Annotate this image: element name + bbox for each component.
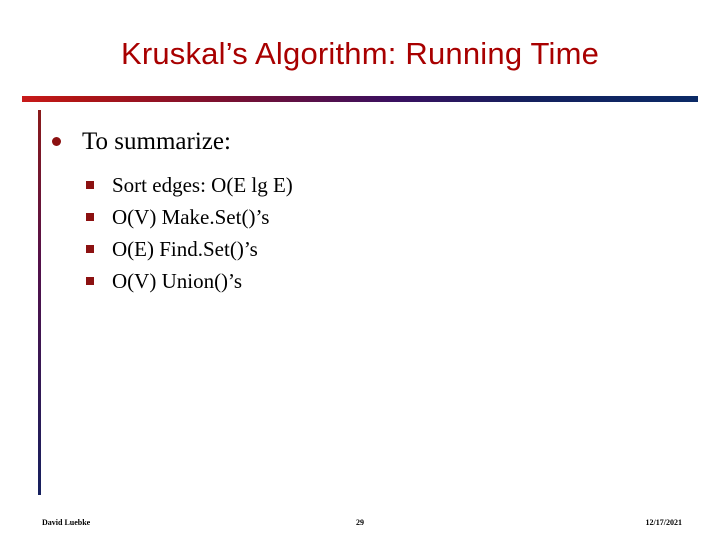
bullet-dot-icon (52, 137, 61, 146)
bullet-square-icon (86, 181, 94, 189)
slide-footer: David Luebke 29 12/17/2021 (0, 518, 720, 532)
footer-slide-number: 29 (0, 518, 720, 527)
bullet-level1-label: To summarize: (82, 128, 231, 155)
bullet-level2-label: O(V) Make.Set()’s (112, 205, 269, 229)
bullet-level2: Sort edges: O(E lg E) (82, 170, 686, 200)
page-title: Kruskal’s Algorithm: Running Time (0, 36, 720, 72)
title-divider (22, 96, 698, 102)
bullet-level2-label: Sort edges: O(E lg E) (112, 173, 293, 197)
slide-content: To summarize: Sort edges: O(E lg E) O(V)… (46, 126, 686, 298)
left-accent-bar (38, 110, 41, 495)
bullet-square-icon (86, 213, 94, 221)
bullet-level2: O(V) Make.Set()’s (82, 202, 686, 232)
bullet-square-icon (86, 277, 94, 285)
bullet-square-icon (86, 245, 94, 253)
sub-bullet-list: Sort edges: O(E lg E) O(V) Make.Set()’s … (46, 170, 686, 296)
bullet-level2-label: O(V) Union()’s (112, 269, 242, 293)
slide: Kruskal’s Algorithm: Running Time To sum… (0, 0, 720, 540)
bullet-level2: O(V) Union()’s (82, 266, 686, 296)
bullet-level2-label: O(E) Find.Set()’s (112, 237, 258, 261)
bullet-level2: O(E) Find.Set()’s (82, 234, 686, 264)
bullet-level1: To summarize: (46, 126, 686, 158)
footer-date: 12/17/2021 (646, 518, 682, 527)
